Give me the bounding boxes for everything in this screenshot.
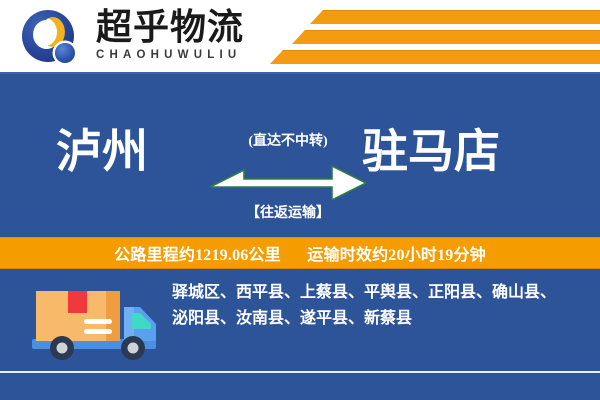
- duration-text: 运输时效约20小时19分钟: [307, 247, 486, 264]
- coverage-area-list: 驿城区、西平县、上蔡县、平舆县、正阳县、确山县、 泌阳县、汝南县、遂平县、新蔡县: [172, 280, 586, 332]
- destination-city-label: 驻马店: [362, 124, 500, 180]
- stripe-2: [292, 30, 600, 44]
- stripe-1: [310, 10, 600, 24]
- body-top-edge: [0, 72, 600, 74]
- bottom-divider: [0, 371, 600, 373]
- poster-header: 超乎物流 CHAOHUWULIU: [0, 0, 600, 72]
- route-arrow-group: (直达不中转) 【往返运输】: [208, 102, 368, 232]
- coverage-section: 驿城区、西平县、上蔡县、平舆县、正阳县、确山县、 泌阳县、汝南县、遂平县、新蔡县: [0, 272, 600, 367]
- origin-city-label: 泸州: [56, 124, 148, 180]
- banner-text-row: 公路里程约1219.06公里 运输时效约20小时19分钟: [114, 241, 486, 265]
- decorative-stripes: [280, 8, 600, 66]
- route-section: 泸州 (直达不中转) 【往返运输】 驻马店: [0, 102, 600, 232]
- logo-dot-shape: [55, 43, 75, 63]
- distance-duration-banner: 公路里程约1219.06公里 运输时效约20小时19分钟: [0, 237, 600, 269]
- coverage-line-2: 泌阳县、汝南县、遂平县、新蔡县: [172, 306, 586, 332]
- route-note-top: (直达不中转): [208, 134, 368, 150]
- coverage-line-1: 驿城区、西平县、上蔡县、平舆县、正阳县、确山县、: [172, 280, 586, 306]
- delivery-truck-icon: [28, 277, 164, 362]
- brand-name-block: 超乎物流 CHAOHUWULIU: [96, 8, 276, 62]
- brand-name-en: CHAOHUWULIU: [96, 48, 276, 62]
- double-headed-arrow-icon: [210, 162, 366, 200]
- brand-logo-icon: [22, 10, 78, 66]
- logistics-route-poster: 超乎物流 CHAOHUWULIU 泸州 (直达不中转) 【往返运输】 驻马店: [0, 0, 600, 400]
- stripe-3: [270, 50, 600, 64]
- distance-text: 公路里程约1219.06公里: [114, 247, 281, 264]
- poster-body: 泸州 (直达不中转) 【往返运输】 驻马店 公路里程约1219.06公里 运输时…: [0, 72, 600, 400]
- brand-name-cn: 超乎物流: [96, 8, 276, 46]
- route-note-bottom: 【往返运输】: [208, 206, 368, 222]
